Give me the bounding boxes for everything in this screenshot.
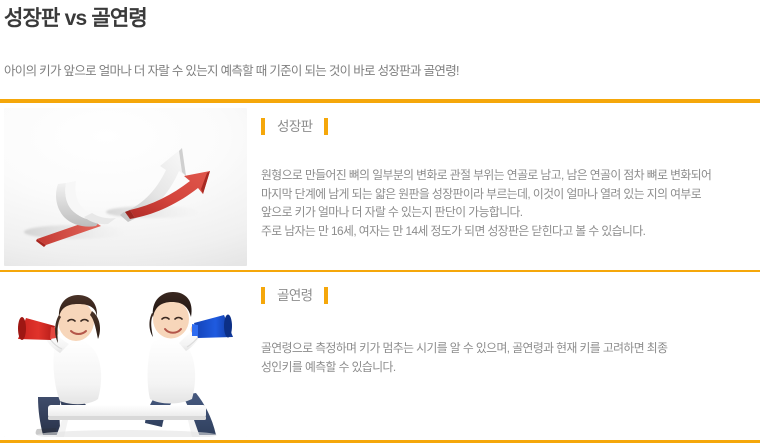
growth-plate-image — [4, 108, 247, 266]
bone-age-description: 골연령으로 측정하며 키가 멈추는 시기를 알 수 있으며, 골연령과 현재 키… — [261, 339, 756, 377]
divider-top — [0, 99, 760, 103]
section-bone-age: 골연령 골연령으로 측정하며 키가 멈추는 시기를 알 수 있으며, 골연령과 … — [0, 277, 760, 437]
growth-plate-heading-label: 성장판 — [277, 118, 312, 135]
paper-arrows-illustration — [4, 108, 247, 266]
section-growth-plate: 성장판 원형으로 만들어진 뼈의 일부분의 변화로 관절 부위는 연골로 남고,… — [0, 108, 760, 266]
divider-bottom — [0, 440, 760, 443]
growth-plate-description: 원형으로 만들어진 뼈의 일부분의 변화로 관절 부위는 연골로 남고, 남은 … — [261, 166, 756, 240]
divider-middle — [0, 270, 760, 272]
children-megaphone-photo — [4, 277, 247, 437]
growth-plate-heading: 성장판 — [261, 118, 328, 135]
bone-age-heading: 골연령 — [261, 287, 328, 304]
growth-plate-body: 성장판 원형으로 만들어진 뼈의 일부분의 변화로 관절 부위는 연골로 남고,… — [261, 108, 756, 266]
page-root: 성장판 vs 골연령 아이의 키가 앞으로 얼마나 더 자랄 수 있는지 예측할… — [0, 0, 760, 446]
bone-age-heading-label: 골연령 — [277, 287, 312, 304]
bone-age-body: 골연령 골연령으로 측정하며 키가 멈추는 시기를 알 수 있으며, 골연령과 … — [261, 277, 756, 437]
bone-age-image — [4, 277, 247, 437]
heading-bar-left-icon — [261, 118, 265, 135]
heading-bar-right-icon — [324, 118, 328, 135]
page-title: 성장판 vs 골연령 — [4, 5, 147, 33]
heading-bar-left-icon — [261, 287, 265, 304]
page-subtitle: 아이의 키가 앞으로 얼마나 더 자랄 수 있는지 예측할 때 기준이 되는 것… — [4, 63, 459, 80]
heading-bar-right-icon — [324, 287, 328, 304]
